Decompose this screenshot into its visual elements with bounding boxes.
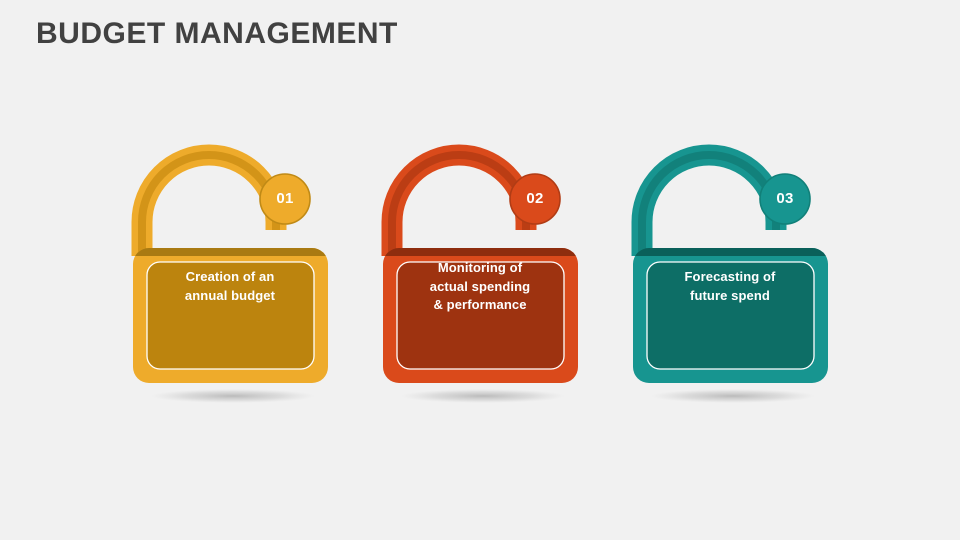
number-badge-circle-02[interactable] bbox=[510, 174, 560, 224]
lock-body-inner-panel-01 bbox=[147, 262, 314, 369]
slide-canvas: BUDGET MANAGEMENT 01 Creation of an annu… bbox=[0, 0, 960, 540]
shackle-inner-stripe-03 bbox=[642, 155, 776, 256]
lock-body-inner-panel-02 bbox=[397, 262, 564, 369]
lock-graphic-01 bbox=[125, 148, 335, 408]
lock-card-03[interactable]: 03 Forecasting of future spend bbox=[625, 148, 835, 408]
lock-card-02[interactable]: 02 Monitoring of actual spending & perfo… bbox=[375, 148, 585, 408]
card-drop-shadow bbox=[651, 389, 815, 403]
card-drop-shadow bbox=[151, 389, 315, 403]
shackle-inner-stripe-02 bbox=[392, 155, 526, 256]
number-badge-circle-01[interactable] bbox=[260, 174, 310, 224]
lock-graphic-02 bbox=[375, 148, 585, 408]
body-top-shadow-strip-02 bbox=[383, 248, 578, 256]
body-top-shadow-strip-01 bbox=[133, 248, 328, 256]
lock-card-01[interactable]: 01 Creation of an annual budget bbox=[125, 148, 335, 408]
lock-body-inner-panel-03 bbox=[647, 262, 814, 369]
shackle-inner-stripe-01 bbox=[142, 155, 276, 256]
page-title: BUDGET MANAGEMENT bbox=[36, 17, 398, 51]
card-drop-shadow bbox=[401, 389, 565, 403]
number-badge-circle-03[interactable] bbox=[760, 174, 810, 224]
lock-graphic-03 bbox=[625, 148, 835, 408]
body-top-shadow-strip-03 bbox=[633, 248, 828, 256]
